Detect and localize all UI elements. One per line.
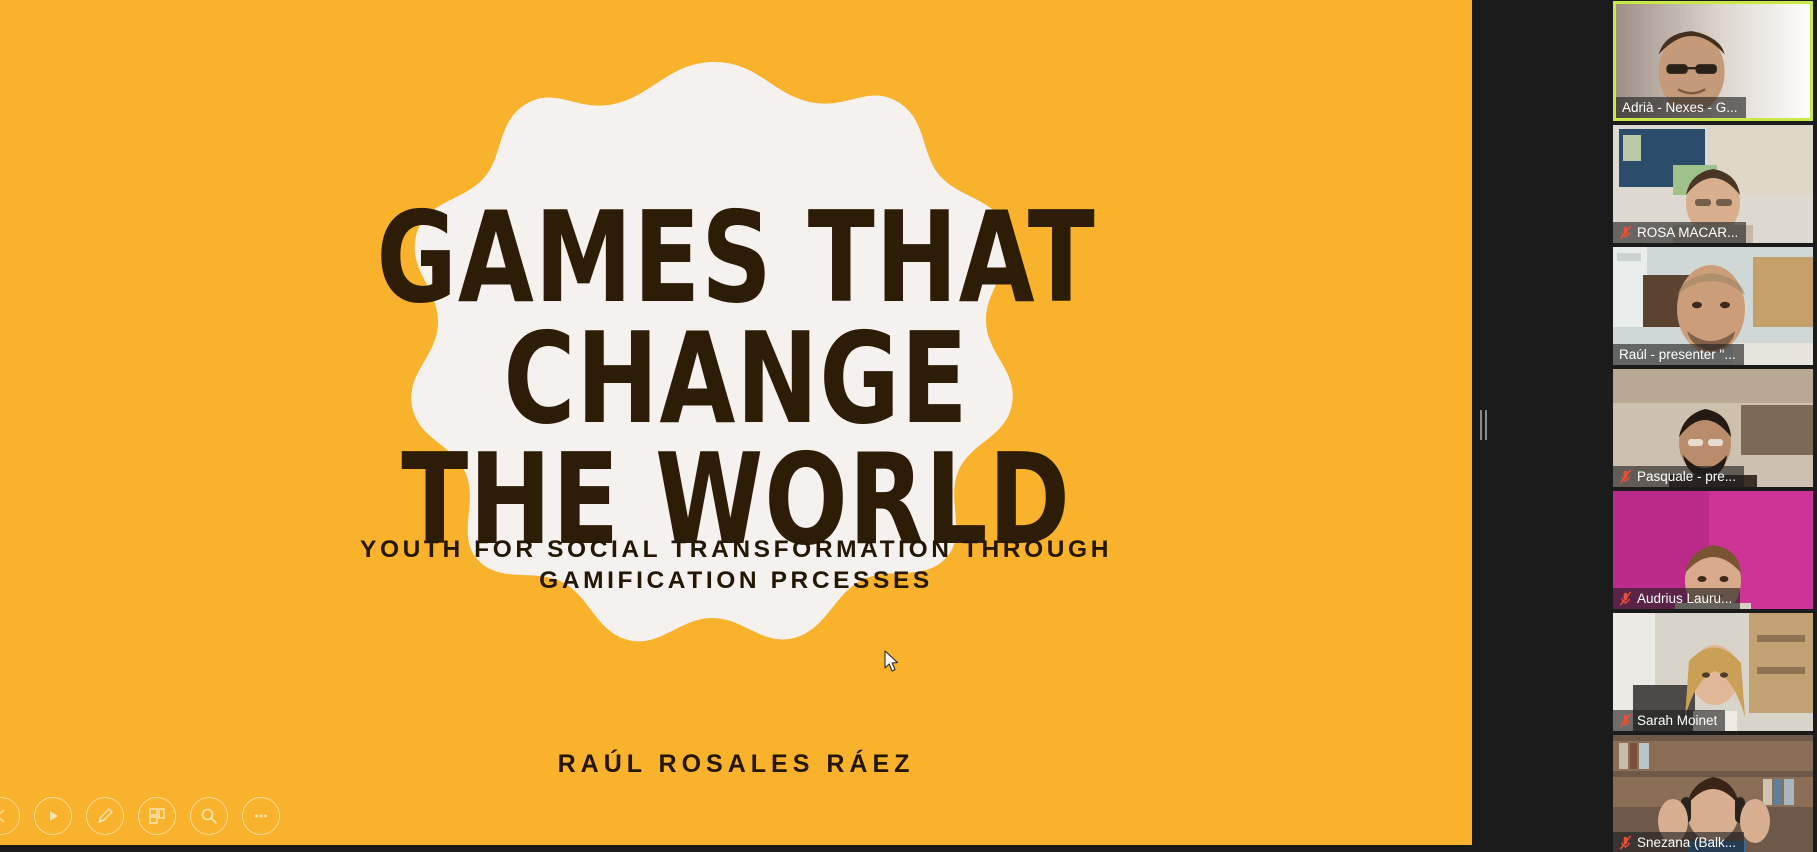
- participant-name-4: Audrius Lauru...: [1637, 591, 1732, 606]
- participant-name-3: Pasquale - pre...: [1637, 469, 1736, 484]
- slide-author: RAÚL ROSALES RÁEZ: [0, 750, 1472, 779]
- previous-icon: [0, 807, 10, 825]
- screen-share-window: GAMES THAT CHANGE THE WORLD YOUTH FOR SO…: [0, 0, 1817, 852]
- slides-grid-icon: [147, 806, 167, 826]
- participant-name-bar-6: Snezana (Balk...: [1613, 832, 1744, 852]
- slides-button[interactable]: [138, 797, 176, 835]
- play-button[interactable]: [34, 797, 72, 835]
- pen-button[interactable]: [86, 797, 124, 835]
- participant-tile-6[interactable]: Snezana (Balk...: [1613, 735, 1813, 852]
- participant-name-5: Sarah Moinet: [1637, 713, 1717, 728]
- slide-subtitle: YOUTH FOR SOCIAL TRANSFORMATION THROUGH …: [0, 535, 1472, 596]
- participant-name-bar-5: Sarah Moinet: [1613, 710, 1725, 731]
- participant-name-0: Adrià - Nexes - G...: [1622, 100, 1738, 115]
- participant-name-bar-3: Pasquale - pre...: [1613, 466, 1744, 487]
- participant-name-bar-4: Audrius Lauru...: [1613, 588, 1740, 609]
- mic-muted-icon: [1619, 591, 1632, 606]
- participant-tile-4[interactable]: Audrius Lauru...: [1613, 491, 1813, 609]
- participant-tile-3[interactable]: Pasquale - pre...: [1613, 369, 1813, 487]
- handle-bar: [1480, 410, 1482, 440]
- shared-screen-stage[interactable]: GAMES THAT CHANGE THE WORLD YOUTH FOR SO…: [0, 0, 1472, 845]
- participant-tile-1[interactable]: ROSA MACAR...: [1613, 125, 1813, 243]
- participant-name-1: ROSA MACAR...: [1637, 225, 1738, 240]
- participant-name-6: Snezana (Balk...: [1637, 835, 1736, 850]
- panel-resize-handle[interactable]: [1478, 410, 1488, 440]
- mic-muted-icon: [1619, 469, 1632, 484]
- participant-filmstrip[interactable]: Adrià - Nexes - G...: [1609, 0, 1817, 852]
- presenter-toolbar: [0, 797, 280, 835]
- participant-name-bar-0: Adrià - Nexes - G...: [1616, 97, 1746, 118]
- presentation-slide: GAMES THAT CHANGE THE WORLD YOUTH FOR SO…: [0, 0, 1472, 845]
- zoom-button[interactable]: [190, 797, 228, 835]
- pen-icon: [95, 806, 115, 826]
- handle-bar: [1485, 410, 1487, 440]
- ellipsis-icon: [251, 806, 271, 826]
- mic-muted-icon: [1619, 713, 1632, 728]
- mic-muted-icon: [1619, 835, 1632, 850]
- participant-name-bar-2: Raúl - presenter "...: [1613, 344, 1744, 365]
- participant-tile-2[interactable]: Raúl - presenter "...: [1613, 247, 1813, 365]
- slide-title: GAMES THAT CHANGE THE WORLD: [162, 198, 1310, 561]
- participant-name-2: Raúl - presenter "...: [1619, 347, 1736, 362]
- mic-muted-icon: [1619, 225, 1632, 240]
- play-icon: [45, 808, 61, 824]
- more-button[interactable]: [242, 797, 280, 835]
- magnifier-icon: [199, 806, 219, 826]
- participant-name-bar-1: ROSA MACAR...: [1613, 222, 1746, 243]
- participant-tile-5[interactable]: Sarah Moinet: [1613, 613, 1813, 731]
- toolbar-partial-button[interactable]: [0, 797, 20, 835]
- participant-tile-0[interactable]: Adrià - Nexes - G...: [1613, 1, 1813, 121]
- slide-text-block: GAMES THAT CHANGE THE WORLD YOUTH FOR SO…: [0, 0, 1472, 845]
